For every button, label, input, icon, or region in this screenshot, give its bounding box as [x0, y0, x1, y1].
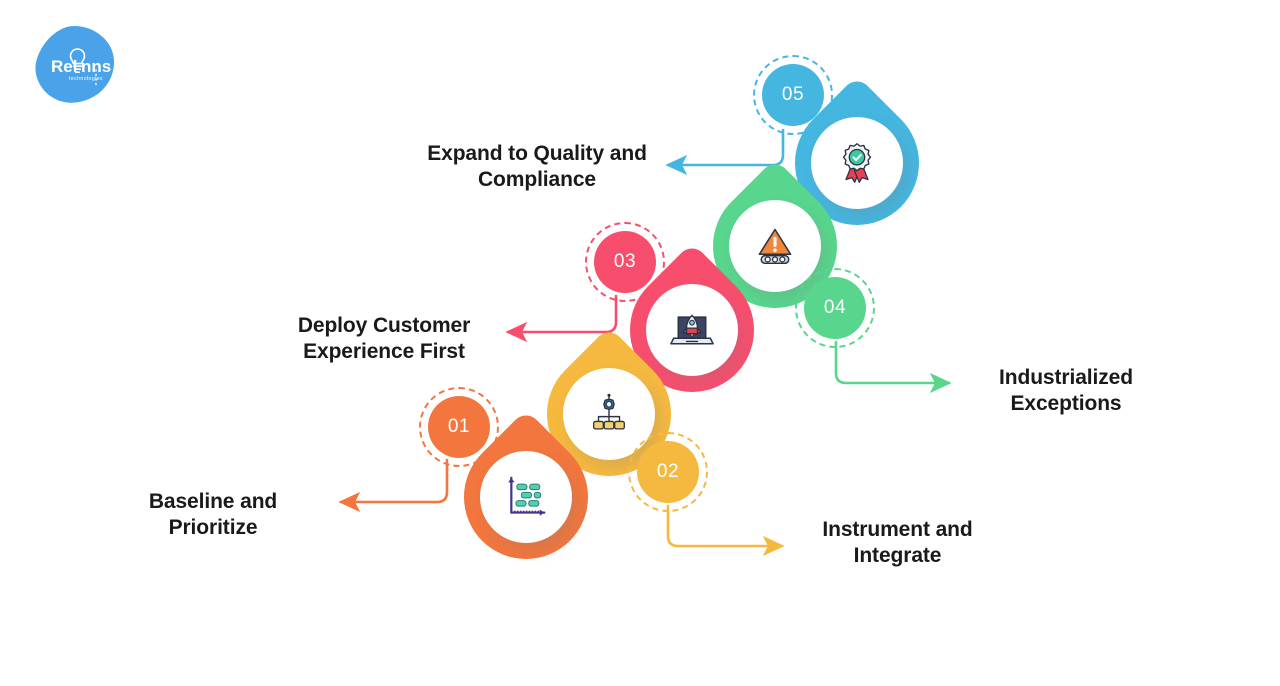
rocket-laptop-launch-icon [670, 308, 714, 352]
connector-arrow-02 [668, 506, 782, 546]
step-label-04-line1: Industrialized [955, 365, 1177, 391]
step-badge-01[interactable]: 01 [428, 396, 490, 458]
quality-award-ribbon-icon [835, 141, 879, 185]
step-label-01: Baseline and Prioritize [108, 489, 318, 542]
step-label-01-line2: Prioritize [108, 515, 318, 541]
step-badge-wrap-05: 05 [753, 55, 833, 135]
relinns-logo[interactable]: Rel nns technologies [33, 24, 117, 106]
priority-matrix-chart-icon [504, 475, 548, 519]
step-label-04-line2: Exceptions [955, 391, 1177, 417]
step-badge-wrap-02: 02 [628, 432, 708, 512]
step-label-03: Deploy Customer Experience First [278, 313, 490, 366]
step-label-02-line1: Instrument and [790, 517, 1005, 543]
step-label-05: Expand to Quality and Compliance [392, 141, 682, 194]
step-label-02-line2: Integrate [790, 543, 1005, 569]
step-label-05-line1: Expand to Quality and [392, 141, 682, 167]
step-badge-wrap-03: 03 [585, 222, 665, 302]
step-badge-wrap-01: 01 [419, 387, 499, 467]
step-label-05-line2: Compliance [392, 167, 682, 193]
lightbulb-blob-logo: Rel nns technologies [33, 24, 117, 106]
connector-arrow-04 [836, 342, 949, 383]
warning-conveyor-belt-icon [753, 224, 797, 268]
step-label-03-line2: Experience First [278, 339, 490, 365]
step-label-04: Industrialized Exceptions [955, 365, 1177, 418]
svg-text:technologies: technologies [69, 76, 103, 82]
integration-network-nodes-icon [588, 393, 630, 435]
infographic-stage: Rel nns technologies [0, 0, 1280, 686]
step-label-01-line1: Baseline and [108, 489, 318, 515]
step-badge-03[interactable]: 03 [594, 231, 656, 293]
step-label-02: Instrument and Integrate [790, 517, 1005, 570]
step-badge-04[interactable]: 04 [804, 277, 866, 339]
connector-arrow-05 [668, 130, 783, 165]
step-badge-05[interactable]: 05 [762, 64, 824, 126]
step-badge-02[interactable]: 02 [637, 441, 699, 503]
step-label-03-line1: Deploy Customer [278, 313, 490, 339]
step-badge-wrap-04: 04 [795, 268, 875, 348]
svg-text:nns: nns [81, 57, 111, 76]
